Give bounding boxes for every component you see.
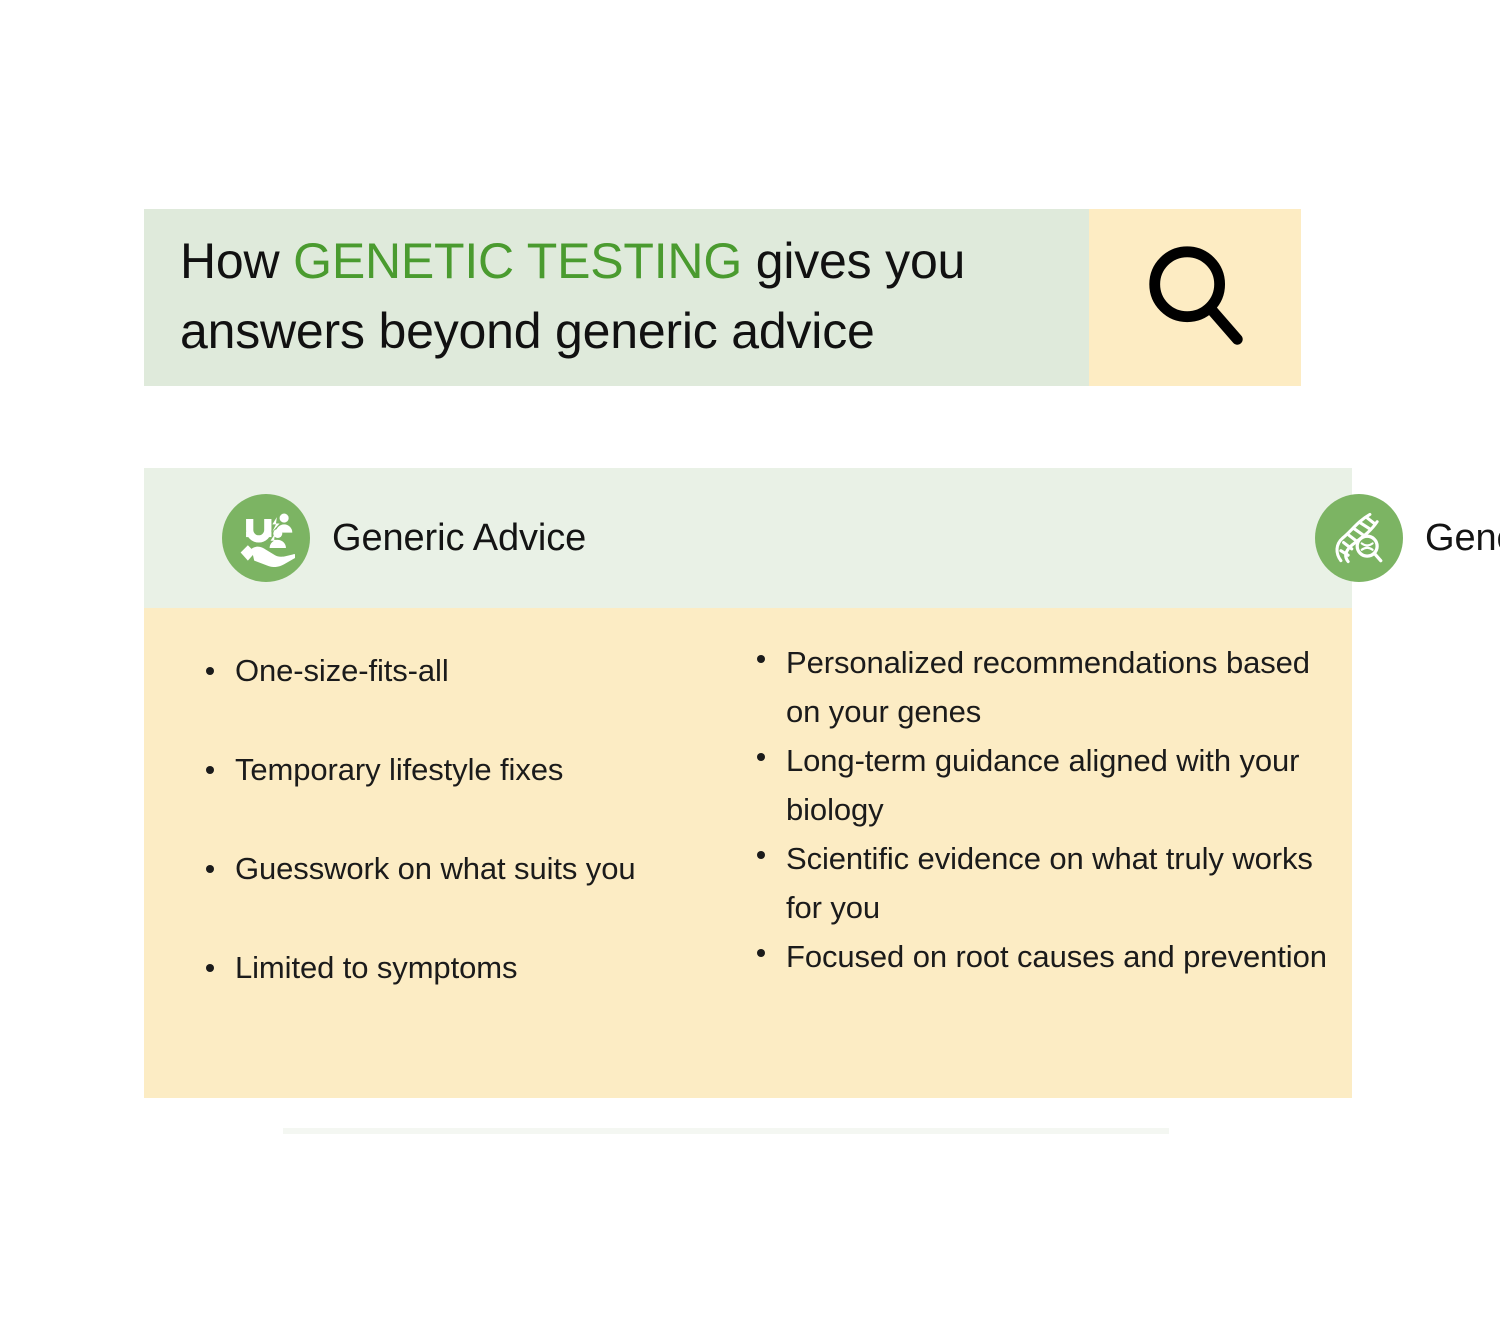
generic-advice-badge <box>222 494 310 582</box>
column-body-generic-advice: One-size-fits-all Temporary lifestyle fi… <box>144 608 732 1098</box>
comparison-table-body-row: One-size-fits-all Temporary lifestyle fi… <box>144 608 1352 1098</box>
header-icon-block <box>1089 209 1301 386</box>
title-suffix: gives you <box>742 233 965 289</box>
header-title-block: How GENETIC TESTING gives you answers be… <box>144 209 1089 386</box>
list-item: Guesswork on what suits you <box>205 848 732 890</box>
footer-divider-strip <box>283 1128 1169 1134</box>
column-header-generic-advice: Generic Advice <box>144 468 732 608</box>
genetic-insights-list: Personalized recommendations based on yo… <box>756 638 1332 981</box>
magnifying-glass-icon <box>1138 239 1256 357</box>
column-header-genetic-insights: Genetic Insights <box>732 468 1352 608</box>
list-item: Scientific evidence on what truly works … <box>756 834 1332 932</box>
list-item: Long-term guidance aligned with your bio… <box>756 736 1332 834</box>
header-band: How GENETIC TESTING gives you answers be… <box>144 209 1301 386</box>
list-item: One-size-fits-all <box>205 650 732 692</box>
title-accent: GENETIC TESTING <box>293 233 742 289</box>
generic-advice-list: One-size-fits-all Temporary lifestyle fi… <box>205 650 732 989</box>
column-body-genetic-insights: Personalized recommendations based on yo… <box>732 608 1352 1098</box>
list-item: Limited to symptoms <box>205 947 732 989</box>
comparison-table: Generic Advice <box>144 468 1352 1098</box>
hand-magnet-people-icon <box>237 509 295 567</box>
page-title: How GENETIC TESTING gives you answers be… <box>180 226 965 366</box>
list-item: Temporary lifestyle fixes <box>205 749 732 791</box>
title-line-2: answers beyond generic advice <box>180 303 875 359</box>
column-header-label-generic-advice: Generic Advice <box>332 517 586 560</box>
column-header-label-genetic-insights: Genetic Insights <box>1425 517 1500 560</box>
genetic-insights-badge <box>1315 494 1403 582</box>
dna-magnifier-icon <box>1330 509 1388 567</box>
list-item: Focused on root causes and prevention <box>756 932 1332 981</box>
title-prefix: How <box>180 233 293 289</box>
comparison-table-header-row: Generic Advice <box>144 468 1352 608</box>
infographic-canvas: How GENETIC TESTING gives you answers be… <box>0 0 1500 1333</box>
list-item: Personalized recommendations based on yo… <box>756 638 1332 736</box>
